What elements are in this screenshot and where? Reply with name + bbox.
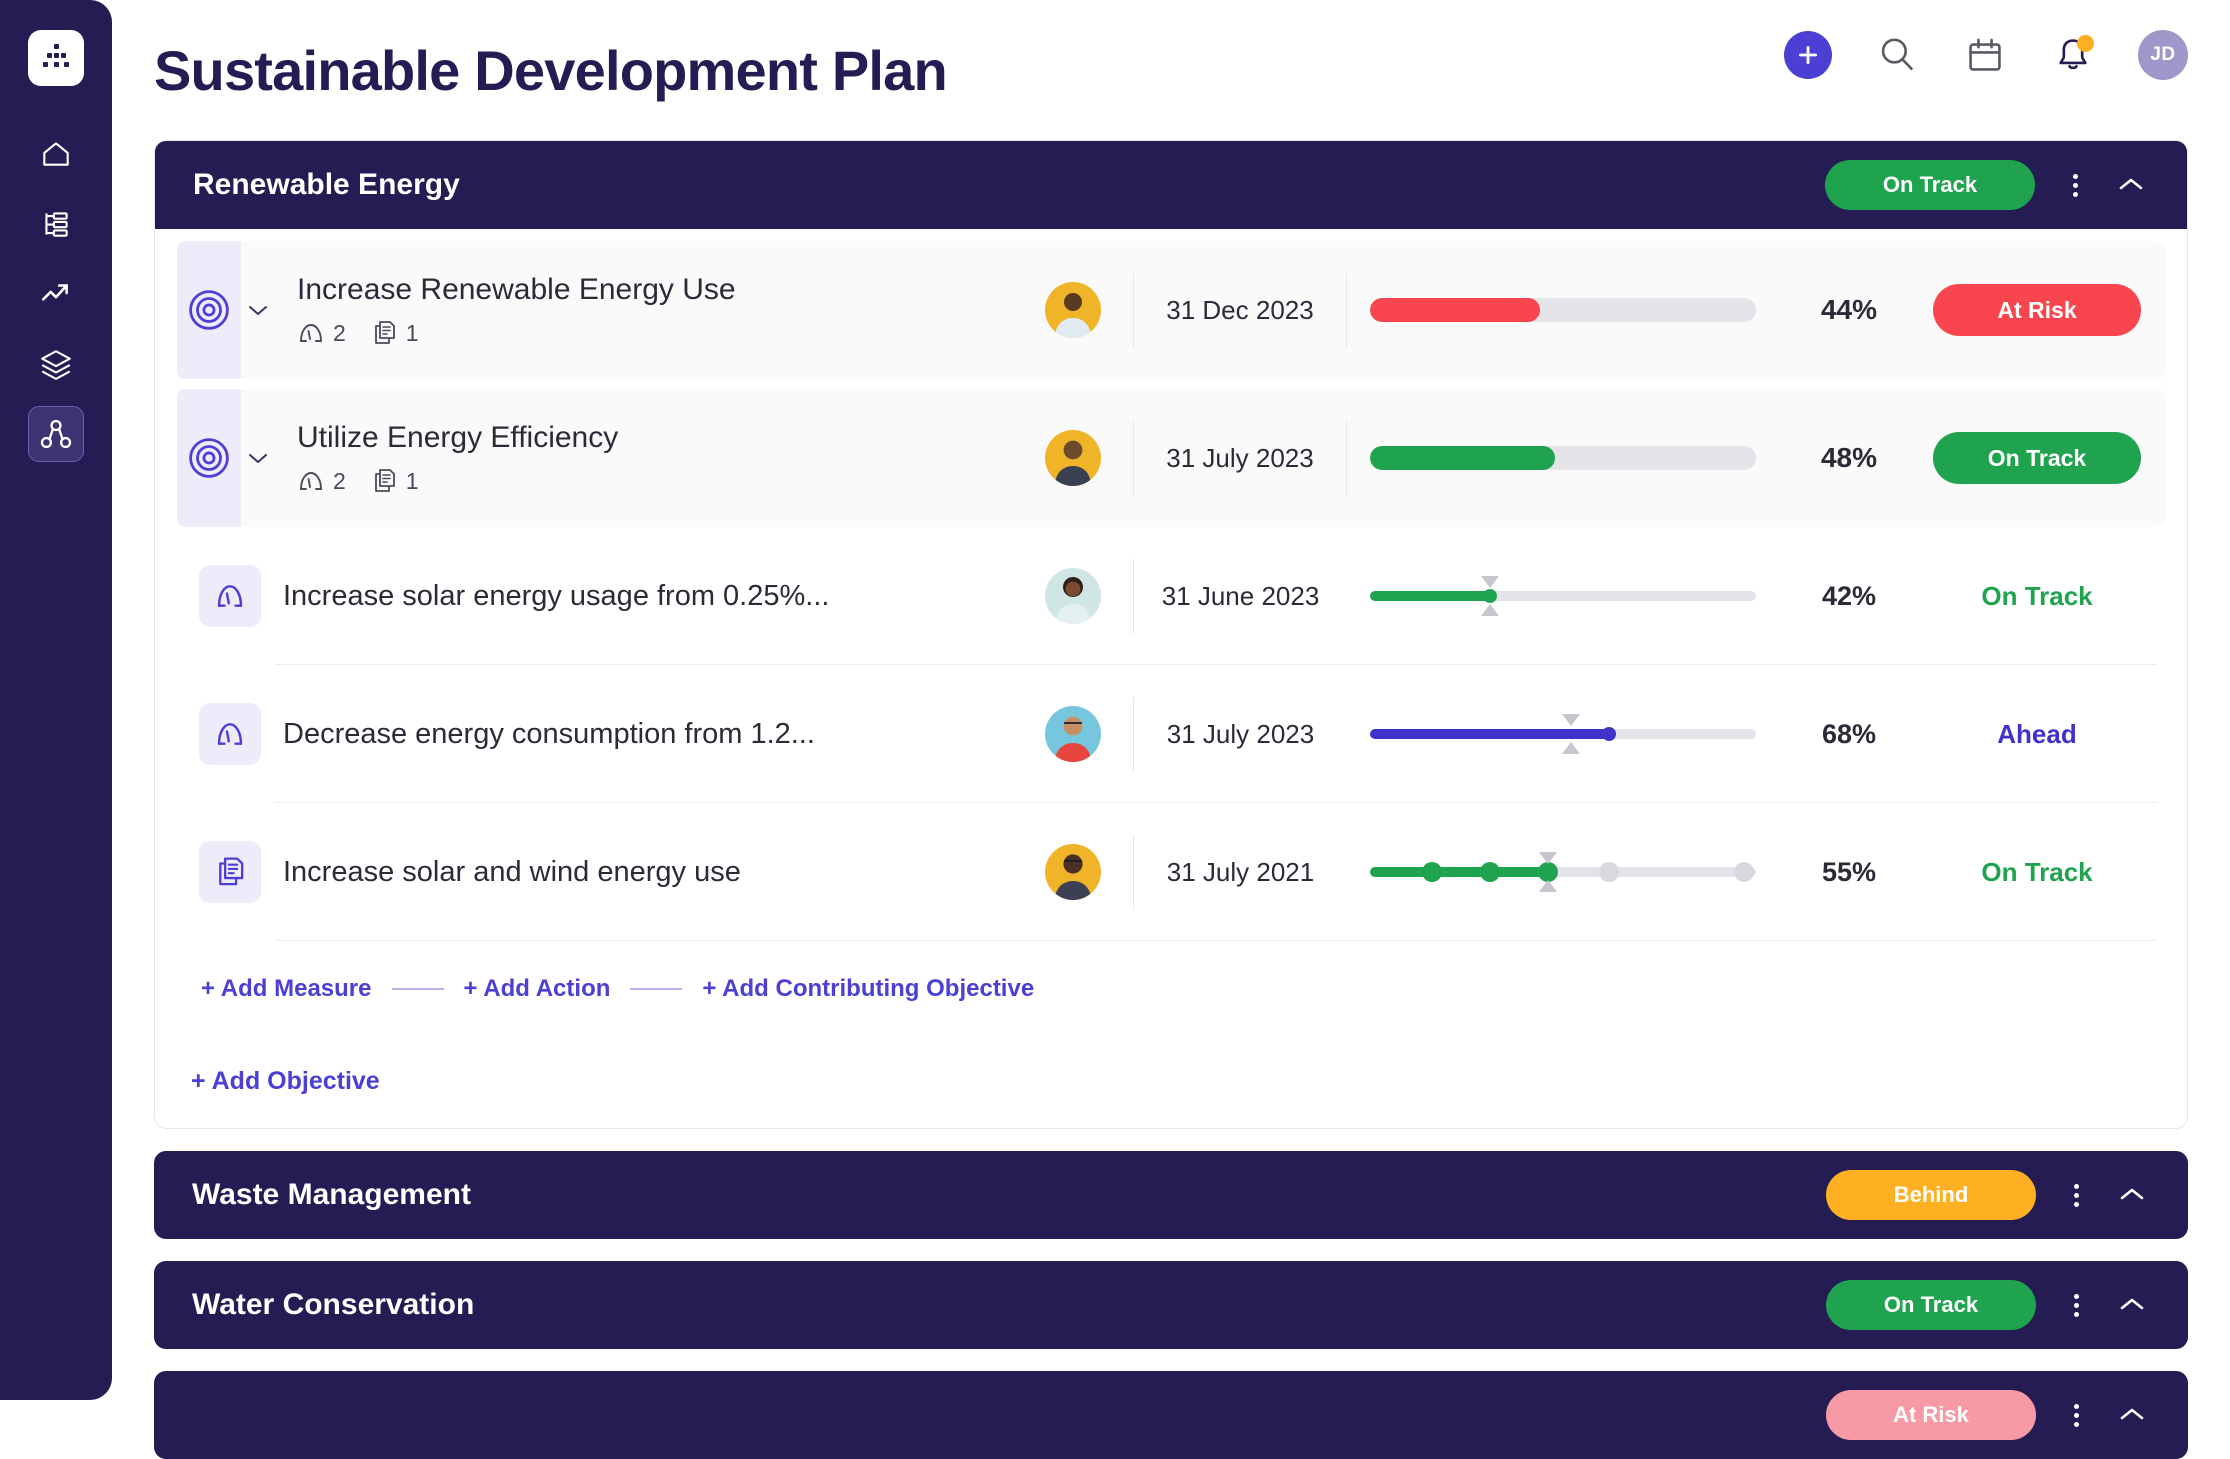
progress-track[interactable] — [1370, 298, 1756, 322]
progress-slider-cell — [1347, 711, 1779, 757]
row-name-block: Increase solar and wind energy use — [261, 856, 1013, 889]
avatar[interactable]: JD — [2138, 30, 2188, 80]
section-header[interactable]: At Risk — [154, 1371, 2188, 1459]
progress-percent: 68% — [1779, 719, 1919, 750]
status-cell: On Track — [1919, 857, 2165, 888]
section-menu-button[interactable] — [2053, 163, 2097, 207]
owner-avatar-cell — [1013, 430, 1133, 486]
status-cell: Ahead — [1919, 719, 2165, 750]
status-badge[interactable]: On Track — [1826, 1280, 2036, 1330]
search-button[interactable] — [1874, 32, 1920, 78]
list-tree-icon — [39, 207, 73, 241]
person-photo — [1045, 568, 1101, 624]
add-button[interactable] — [1784, 31, 1832, 79]
target-marker-down — [1539, 880, 1557, 892]
milestone-slider-cell — [1347, 849, 1779, 895]
sidebar-item-analytics[interactable] — [28, 266, 84, 322]
owner-avatar-cell — [1013, 568, 1133, 624]
status-label: On Track — [1981, 857, 2092, 888]
section-title: Waste Management — [192, 1178, 1826, 1212]
progress-slider[interactable] — [1370, 711, 1756, 757]
row-name-block: Increase Renewable Energy Use 2 — [275, 273, 1013, 347]
slider-fill — [1370, 729, 1609, 739]
progress-slider-cell — [1347, 573, 1779, 619]
status-badge[interactable]: At Risk — [1933, 284, 2141, 336]
section-title: Renewable Energy — [193, 168, 1825, 202]
header-actions: JD — [1784, 30, 2188, 80]
org-chart-logo-icon — [39, 41, 73, 75]
calendar-button[interactable] — [1962, 32, 2008, 78]
row-meta: 2 1 — [297, 319, 1013, 347]
notification-dot — [2077, 35, 2094, 52]
plus-icon — [1795, 42, 1821, 68]
home-icon — [39, 137, 73, 171]
divider — [630, 988, 682, 990]
avatar[interactable] — [1045, 844, 1101, 900]
progress-percent: 55% — [1779, 857, 1919, 888]
section-collapse-button[interactable] — [2108, 1283, 2156, 1327]
add-measure-link[interactable]: + Add Measure — [201, 975, 372, 1003]
sidebar-item-strategy-map[interactable] — [28, 406, 84, 462]
target-marker-down — [1481, 604, 1499, 616]
add-links-row: + Add Measure + Add Action + Add Contrib… — [177, 941, 2165, 1037]
milestone-dot[interactable] — [1599, 862, 1619, 882]
avatar[interactable] — [1045, 430, 1101, 486]
action-count[interactable]: 1 — [370, 467, 419, 495]
progress-percent: 44% — [1779, 294, 1919, 326]
add-contributing-objective-link[interactable]: + Add Contributing Objective — [702, 975, 1034, 1003]
action-count[interactable]: 1 — [370, 319, 419, 347]
target-marker-down — [1562, 742, 1580, 754]
sidebar-item-projects[interactable] — [28, 196, 84, 252]
table-row[interactable]: Increase solar energy usage from 0.25%..… — [177, 527, 2165, 665]
status-cell: On Track — [1919, 581, 2165, 612]
section-partial: At Risk — [154, 1371, 2188, 1459]
target-marker-up — [1562, 714, 1580, 726]
search-icon — [1876, 34, 1918, 76]
target-icon — [186, 435, 232, 481]
owner-avatar-cell — [1013, 844, 1133, 900]
table-row[interactable]: Increase Renewable Energy Use 2 — [177, 241, 2165, 379]
section-collapse-button[interactable] — [2107, 163, 2155, 207]
due-date: 31 Dec 2023 — [1133, 273, 1347, 348]
section-waste-management: Waste Management Behind — [154, 1151, 2188, 1239]
owner-avatar-cell — [1013, 282, 1133, 338]
section-header[interactable]: Renewable Energy On Track — [155, 141, 2187, 229]
section-header[interactable]: Water Conservation On Track — [154, 1261, 2188, 1349]
measure-count-value: 2 — [333, 468, 346, 495]
row-expand-button[interactable] — [241, 451, 275, 465]
chevron-up-icon — [2117, 1405, 2147, 1425]
row-title: Increase Renewable Energy Use — [297, 273, 1013, 307]
chevron-down-icon — [247, 303, 269, 317]
section-collapse-button[interactable] — [2108, 1173, 2156, 1217]
table-row[interactable]: Utilize Energy Efficiency 2 — [177, 389, 2165, 527]
section-renewable-energy: Renewable Energy On Track — [154, 140, 2188, 1129]
table-row[interactable]: Increase solar and wind energy use 31 Ju… — [177, 803, 2165, 941]
person-photo — [1045, 430, 1101, 486]
objective-icon-tile — [177, 241, 241, 379]
notifications-button[interactable] — [2050, 32, 2096, 78]
status-label: Ahead — [1997, 719, 2076, 750]
measure-icon-tile — [199, 565, 261, 627]
row-expand-button[interactable] — [241, 303, 275, 317]
chevron-up-icon — [2116, 175, 2146, 195]
status-badge[interactable]: Behind — [1826, 1170, 2036, 1220]
slider-fill — [1370, 867, 1548, 877]
status-cell: On Track — [1919, 432, 2165, 484]
section-menu-button[interactable] — [2054, 1283, 2098, 1327]
status-cell: At Risk — [1919, 284, 2165, 336]
app-logo[interactable] — [28, 30, 84, 86]
sidebar-item-home[interactable] — [28, 126, 84, 182]
progress-fill — [1370, 298, 1540, 322]
table-row[interactable]: Decrease energy consumption from 1.2... … — [177, 665, 2165, 803]
row-meta: 2 1 — [297, 467, 1013, 495]
progress-bar-cell — [1347, 446, 1779, 470]
progress-fill — [1370, 446, 1555, 470]
measure-icon-tile — [199, 703, 261, 765]
sidebar-item-layers[interactable] — [28, 336, 84, 392]
row-title: Increase solar energy usage from 0.25%..… — [283, 580, 1013, 613]
section-menu-button[interactable] — [2054, 1173, 2098, 1217]
due-date: 31 July 2023 — [1133, 697, 1347, 772]
page-title: Sustainable Development Plan — [154, 38, 947, 103]
divider — [392, 988, 444, 990]
document-icon — [370, 319, 398, 347]
hierarchy-icon — [39, 417, 73, 451]
main-content: Sustainable Development Plan — [112, 0, 2230, 1400]
section-header[interactable]: Waste Management Behind — [154, 1151, 2188, 1239]
section-water-conservation: Water Conservation On Track — [154, 1261, 2188, 1349]
progress-slider[interactable] — [1370, 573, 1756, 619]
chevron-up-icon — [2117, 1295, 2147, 1315]
action-count-value: 1 — [406, 468, 419, 495]
chevron-down-icon — [247, 451, 269, 465]
milestone-slider[interactable] — [1370, 849, 1756, 895]
progress-percent: 42% — [1779, 581, 1919, 612]
trending-up-icon — [39, 277, 73, 311]
gauge-icon — [213, 579, 247, 613]
target-marker-up — [1539, 852, 1557, 864]
objective-icon-tile — [177, 389, 241, 527]
row-title: Increase solar and wind energy use — [283, 856, 1013, 889]
status-badge[interactable]: On Track — [1825, 160, 2035, 210]
calendar-icon — [1964, 34, 2006, 76]
gauge-icon — [297, 467, 325, 495]
add-objective-row: + Add Objective — [155, 1037, 2187, 1128]
document-icon — [370, 467, 398, 495]
add-action-link[interactable]: + Add Action — [464, 975, 611, 1003]
progress-percent: 48% — [1779, 442, 1919, 474]
status-badge[interactable]: On Track — [1933, 432, 2141, 484]
add-objective-link[interactable]: + Add Objective — [191, 1067, 380, 1095]
action-icon-tile — [199, 841, 261, 903]
progress-track[interactable] — [1370, 446, 1756, 470]
due-date: 31 July 2023 — [1133, 421, 1347, 496]
avatar[interactable] — [1045, 282, 1101, 338]
gauge-icon — [213, 717, 247, 751]
status-badge[interactable]: At Risk — [1826, 1390, 2036, 1440]
row-name-block: Decrease energy consumption from 1.2... — [261, 718, 1013, 751]
owner-avatar-cell — [1013, 706, 1133, 762]
due-date: 31 July 2021 — [1133, 835, 1347, 910]
avatar[interactable] — [1045, 568, 1101, 624]
row-name-block: Utilize Energy Efficiency 2 — [275, 421, 1013, 495]
layers-icon — [39, 347, 73, 381]
action-count-value: 1 — [406, 320, 419, 347]
person-photo — [1045, 706, 1101, 762]
slider-knob[interactable] — [1602, 727, 1616, 741]
chevron-up-icon — [2117, 1185, 2147, 1205]
gauge-icon — [297, 319, 325, 347]
row-title: Utilize Energy Efficiency — [297, 421, 1013, 455]
measure-count[interactable]: 2 — [297, 319, 346, 347]
section-rows: Increase Renewable Energy Use 2 — [155, 229, 2187, 1037]
page-header: Sustainable Development Plan — [112, 0, 2230, 140]
measure-count-value: 2 — [333, 320, 346, 347]
measure-count[interactable]: 2 — [297, 467, 346, 495]
person-photo — [1045, 844, 1101, 900]
milestone-dot[interactable] — [1422, 862, 1442, 882]
document-icon — [213, 855, 247, 889]
section-title: Water Conservation — [192, 1288, 1826, 1322]
avatar[interactable] — [1045, 706, 1101, 762]
milestone-dot[interactable] — [1480, 862, 1500, 882]
due-date: 31 June 2023 — [1133, 559, 1347, 634]
progress-bar-cell — [1347, 298, 1779, 322]
row-title: Decrease energy consumption from 1.2... — [283, 718, 1013, 751]
slider-fill — [1370, 591, 1490, 601]
status-label: On Track — [1981, 581, 2092, 612]
milestone-dot[interactable] — [1538, 862, 1558, 882]
target-icon — [186, 287, 232, 333]
target-marker-up — [1481, 576, 1499, 588]
person-photo — [1045, 282, 1101, 338]
milestone-dot[interactable] — [1734, 862, 1754, 882]
sidebar — [0, 0, 112, 1400]
slider-knob[interactable] — [1483, 589, 1497, 603]
row-name-block: Increase solar energy usage from 0.25%..… — [261, 580, 1013, 613]
